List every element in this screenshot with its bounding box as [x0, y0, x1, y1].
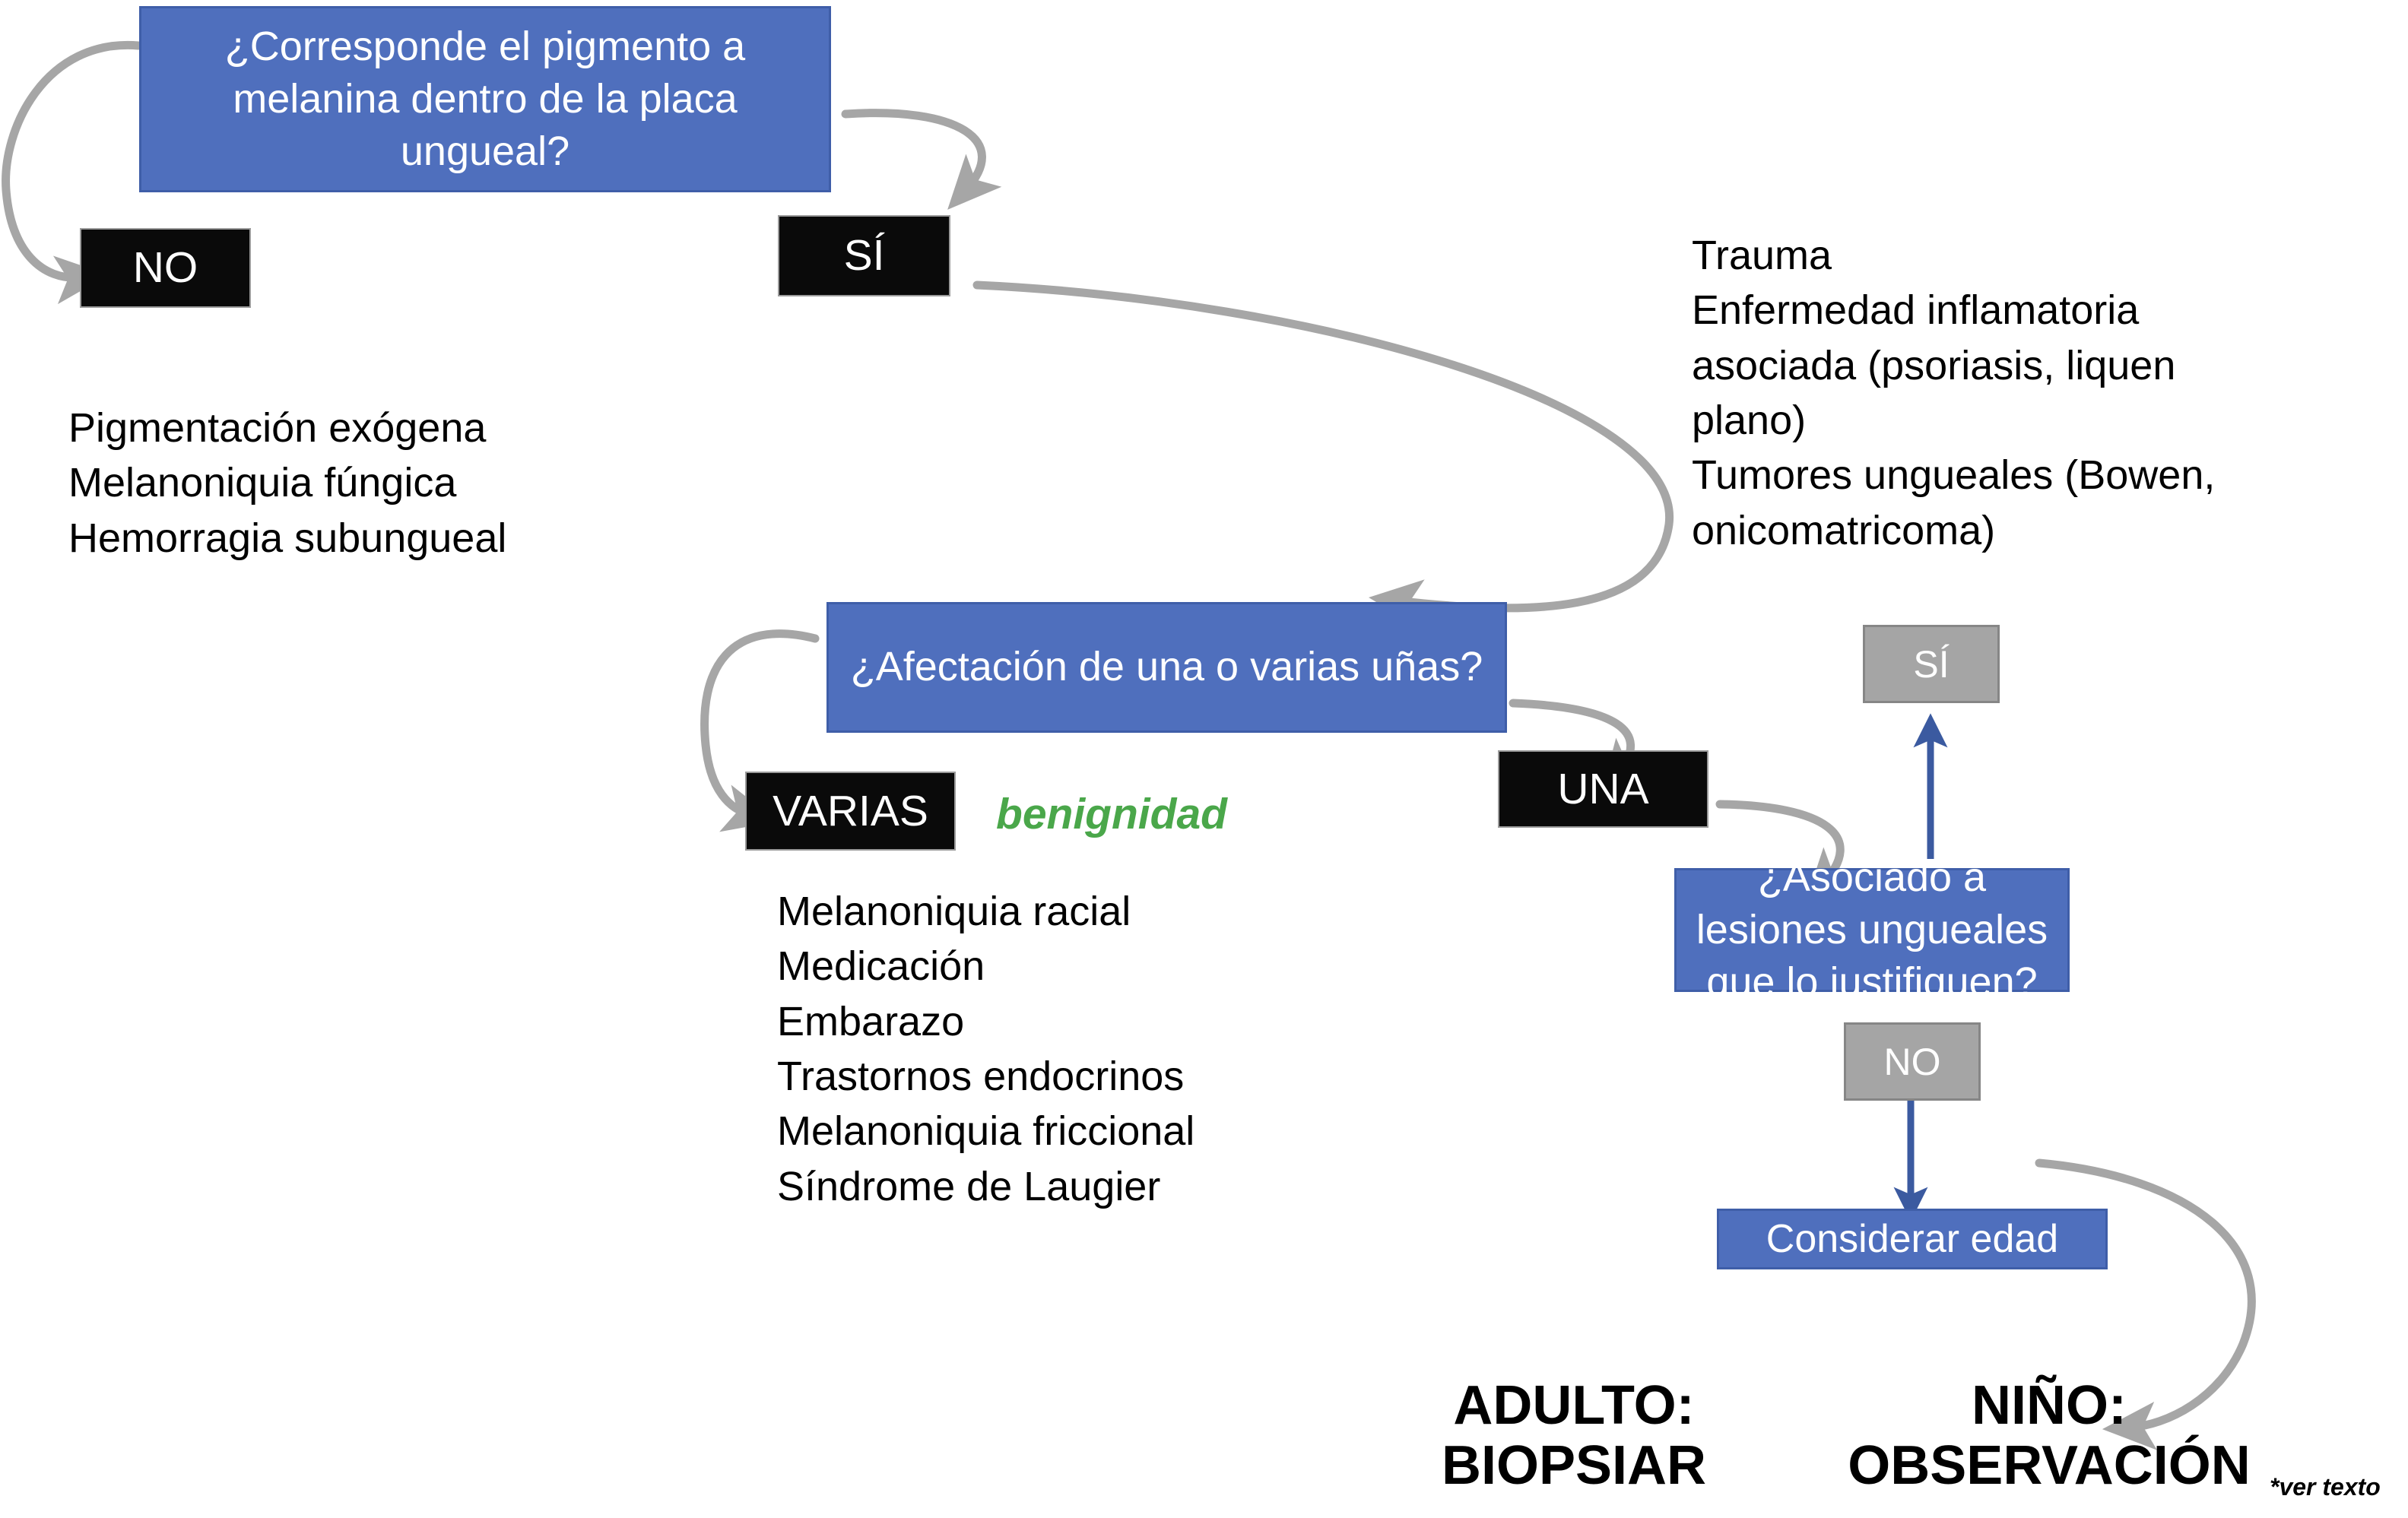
decision-box-associated-nail-lesions[interactable]: ¿Asociado a lesiones ungueales que lo ju…	[1674, 868, 2070, 992]
flowchart-canvas: ¿Corresponde el pigmento a melanina dent…	[0, 0, 2408, 1518]
answer-chip-varias[interactable]: VARIAS	[745, 772, 956, 851]
decision-box-one-or-several-nails[interactable]: ¿Afectación de una o varias uñas?	[826, 602, 1507, 733]
decision-box-pigment-melanin[interactable]: ¿Corresponde el pigmento a melanina dent…	[139, 6, 831, 192]
answer-chip-q3-no[interactable]: NO	[1844, 1022, 1981, 1101]
benignidad-label: benignidad	[996, 793, 1227, 836]
outcome-nino-footnote: *ver texto	[2270, 1475, 2381, 1499]
list-non-melanin-causes: Pigmentación exógena Melanoniquia fúngic…	[68, 401, 753, 566]
answer-chip-q1-si[interactable]: SÍ	[778, 215, 950, 296]
outcome-adulto: ADULTO: BIOPSIAR	[1422, 1376, 1726, 1496]
arrow-si-to-q2	[977, 285, 1670, 608]
list-multiple-nail-benign-causes: Melanoniquia racial Medicación Embarazo …	[777, 884, 1461, 1214]
answer-chip-q1-no[interactable]: NO	[80, 228, 251, 308]
decision-box-considerar-edad[interactable]: Considerar edad	[1717, 1209, 2108, 1269]
answer-chip-q3-si[interactable]: SÍ	[1863, 625, 2000, 703]
list-single-nail-causes: Trauma Enfermedad inflamatoria asociada …	[1692, 228, 2399, 558]
outcome-nino: NIÑO: OBSERVACIÓN	[1817, 1376, 2281, 1496]
arrow-q1-to-si	[845, 113, 982, 190]
answer-chip-una[interactable]: UNA	[1498, 750, 1708, 828]
